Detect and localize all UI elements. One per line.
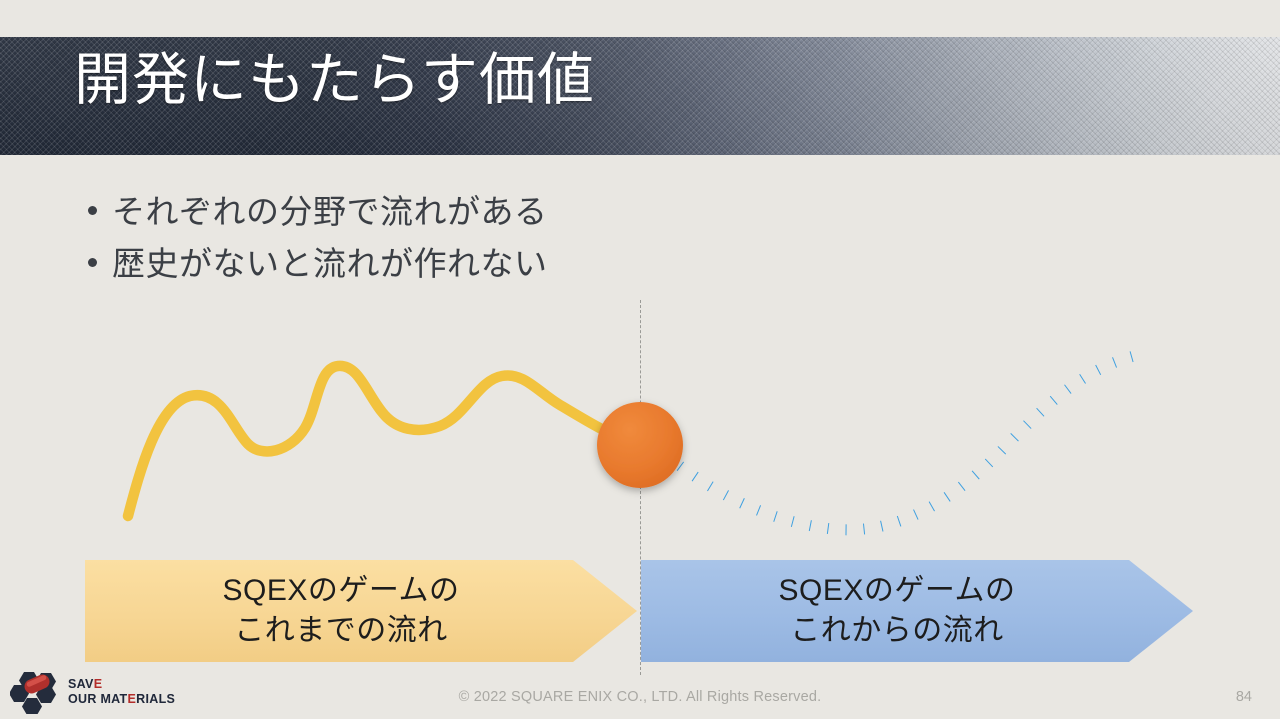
slide-canvas: 開発にもたらす価値 それぞれの分野で流れがある 歴史がないと流れが作れない [0, 0, 1280, 719]
page-title: 開発にもたらす価値 [74, 48, 595, 114]
copyright-notice: © 2022 SQUARE ENIX CO., LTD. All Rights … [0, 689, 1280, 705]
future-banner-line2: これからの流れ [779, 611, 1016, 651]
past-banner-line2: これまでの流れ [223, 611, 460, 651]
past-flow-curve [128, 366, 632, 516]
past-flow-banner: SQEXのゲームの これまでの流れ [85, 560, 637, 662]
future-banner-line1: SQEXのゲームの [779, 571, 1016, 611]
past-banner-line1: SQEXのゲームの [223, 571, 460, 611]
future-flow-banner: SQEXのゲームの これからの流れ [641, 560, 1193, 662]
now-marker-icon [597, 402, 683, 488]
future-flow-curve [680, 355, 1138, 530]
page-number: 84 [1236, 689, 1252, 705]
